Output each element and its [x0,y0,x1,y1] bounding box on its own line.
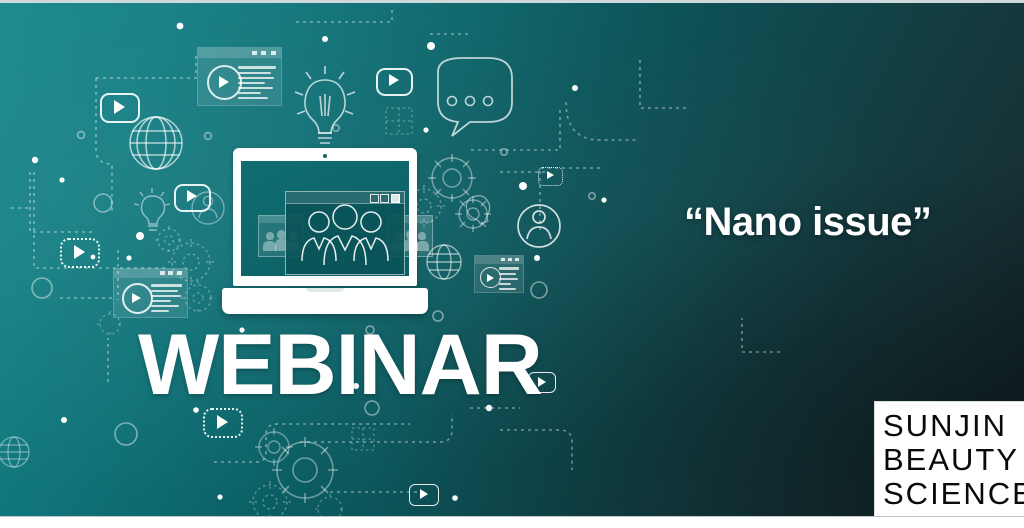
video-window-icon [474,255,524,293]
play-button-icon [100,93,140,123]
sunjin-beauty-science-logo: SUNJIN BEAUTY SCIENCE [875,402,1024,518]
video-window-icon [197,47,282,106]
maximize-icon [168,271,173,275]
text-lines [238,66,276,102]
top-light-band [0,0,1024,3]
minimize-icon [252,51,257,55]
play-button-icon [409,484,439,506]
logo-line-1: SUNJIN [883,409,1024,443]
window-title-bar [475,256,523,264]
close-icon [391,194,400,203]
window-title-bar [198,48,281,58]
close-icon [177,271,182,275]
close-icon [271,51,276,55]
laptop-camera-icon [323,154,327,158]
webinar-banner: WEBINAR “Nano issue” SUNJIN BEAUTY SCIEN… [0,0,1024,528]
logo-line-3: SCIENCE [883,477,1024,511]
bottom-white-band [0,517,1024,528]
minimize-icon [370,194,379,203]
page-title: WEBINAR [138,322,542,408]
laptop-illustration [222,148,428,324]
play-triangle-icon [132,293,141,303]
logo-line-2: BEAUTY [883,443,1024,477]
text-lines [499,267,519,293]
three-people-icon [286,203,404,274]
play-button-icon [60,238,100,268]
maximize-icon [508,258,512,261]
minimize-icon [501,258,505,261]
video-window-icon [113,268,188,318]
play-button-icon [538,167,563,186]
play-triangle-icon [219,76,229,88]
play-triangle-icon [487,274,494,282]
close-icon [515,258,519,261]
laptop-screen [241,161,409,276]
text-lines [151,284,182,315]
play-button-icon [174,184,211,212]
window-title-bar [114,269,187,278]
laptop-lid [233,148,417,286]
play-button-icon [376,68,413,96]
video-conference-window [285,191,405,275]
webinar-topic-title: “Nano issue” [684,200,931,244]
minimize-icon [160,271,165,275]
maximize-icon [261,51,266,55]
maximize-icon [380,194,389,203]
laptop-base [222,288,428,314]
